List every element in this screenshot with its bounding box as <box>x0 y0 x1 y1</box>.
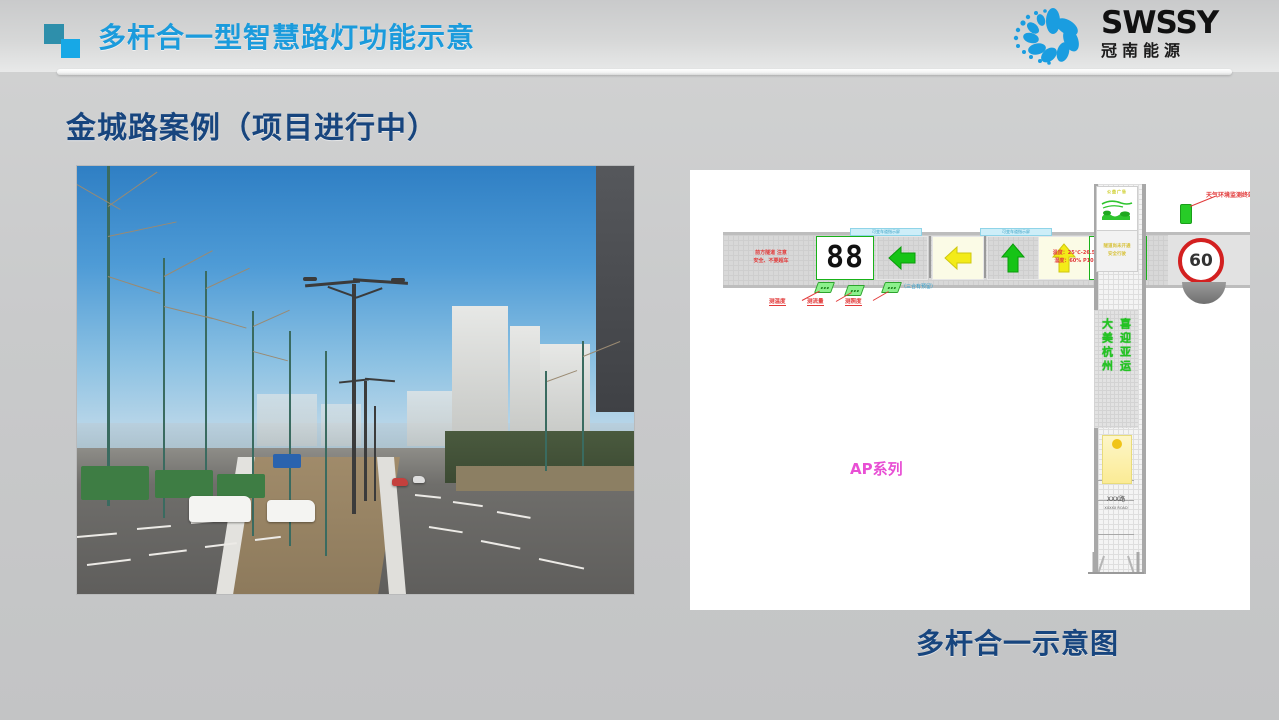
street-name-cn: XXX路 <box>1107 496 1125 504</box>
pole-led-column-1: 喜迎亚运 <box>1119 318 1132 428</box>
arrow-up-green-icon <box>998 241 1028 275</box>
sensor-reserve-note: （三合有预留） <box>901 283 936 290</box>
section-subtitle: 金城路案例（项目进行中） <box>66 103 438 147</box>
tunnel-warning-message: 前方隧道 注意 安全、不要超车 <box>730 238 812 276</box>
street-photo <box>76 165 635 595</box>
pole-led-column-2: 大美杭州 <box>1101 318 1114 428</box>
speed-limit-sign: 60 <box>1178 238 1224 284</box>
lane-divider <box>984 236 986 278</box>
photo-roadside-tree <box>582 341 584 466</box>
landscape-graphic-icon <box>1099 195 1135 223</box>
pole-notice-line2: 安全行驶 <box>1108 251 1126 259</box>
pole-led-lamp-panel <box>1102 435 1132 484</box>
weather-sensor-label: 天气环境监测终端 <box>1206 190 1250 199</box>
environment-humidity: 湿度：60% P10 <box>1054 257 1093 265</box>
pole-led-banner: 大美杭州 喜迎亚运 <box>1094 310 1138 428</box>
header-divider <box>57 69 1232 75</box>
countdown-display-left: 88 <box>816 236 874 280</box>
pole-notice-line1: 隧道尚未开通 <box>1104 243 1131 251</box>
logo-chinese-name: 冠南能源 <box>1101 41 1218 61</box>
photo-white-car <box>189 496 251 522</box>
sensor-label-1: 测温度 <box>769 297 786 306</box>
company-logo: SWSSY 冠南能源 <box>1009 5 1257 67</box>
photo-building <box>257 394 317 446</box>
sensor-label-3: 测照度 <box>845 297 862 306</box>
pole-notice-panel: 隧道尚未开通 安全行驶 <box>1096 230 1138 272</box>
slide-root: 多杆合一型智慧路灯功能示意 <box>0 0 1279 720</box>
diagram-caption: 多杆合一示意图 <box>916 622 1119 662</box>
logo-english-name: SWSSY <box>1101 7 1218 39</box>
arrow-left-green-icon <box>885 243 919 273</box>
header-decor-squares <box>44 24 84 58</box>
variable-lane-strip-right: 可变车道指示屏 <box>980 228 1052 236</box>
slide-header: 多杆合一型智慧路灯功能示意 <box>0 0 1279 72</box>
photo-white-car <box>267 500 315 522</box>
ap-series-label: AP系列 <box>850 458 903 479</box>
environment-temperature: 温度：25℃-26.5 <box>1053 249 1095 257</box>
photo-distant-car <box>392 478 408 486</box>
photo-distant-car <box>413 476 425 483</box>
tunnel-warning-line2: 安全、不要超车 <box>753 257 788 265</box>
pole-segment-line <box>1098 534 1134 535</box>
tunnel-warning-line1: 前方隧道 注意 <box>755 249 787 257</box>
pole-public-ad-panel: 公益广告 <box>1096 186 1138 232</box>
multi-pole-diagram: 可变车道指示屏 可变车道指示屏 前方隧道 注意 安全、不要超车 88 <box>690 170 1250 610</box>
weather-sensor-icon <box>1180 204 1192 224</box>
countdown-digits-left: 88 <box>826 243 864 273</box>
photo-green-truck <box>217 474 265 498</box>
photo-lamp-head <box>303 277 317 281</box>
lane-divider <box>929 236 931 278</box>
pole-base-icon <box>1088 552 1144 574</box>
photo-streetlight-pole <box>364 381 367 501</box>
pole-base <box>1088 552 1144 574</box>
photo-green-truck <box>81 466 149 500</box>
dome-camera-icon <box>1182 282 1226 304</box>
photo-building <box>510 326 540 441</box>
photo-building-tower <box>596 165 635 412</box>
photo-roadside-tree <box>107 166 110 506</box>
lane-arrow-left-yellow <box>932 236 984 280</box>
street-name-en: XXXXX ROAD <box>1104 504 1127 512</box>
photo-streetlight-pole <box>374 406 376 501</box>
photo-streetlight-pole <box>352 284 356 514</box>
page-title: 多杆合一型智慧路灯功能示意 <box>98 16 475 56</box>
speed-limit-value: 60 <box>1189 251 1213 271</box>
street-name-plate: XXX路 XXXXX ROAD <box>1096 492 1136 516</box>
swssy-flower-logo-icon <box>1009 7 1095 65</box>
photo-roadside-tree <box>252 311 254 536</box>
arrow-left-yellow-icon <box>941 243 975 273</box>
photo-road-sign <box>273 454 301 468</box>
photo-building <box>452 306 508 441</box>
lane-arrow-left-green <box>876 236 928 280</box>
logo-text-block: SWSSY 冠南能源 <box>1101 7 1218 61</box>
photo-lamp-head <box>391 278 405 282</box>
photo-roadside-tree <box>545 371 547 471</box>
decor-square-light-icon <box>61 39 80 58</box>
sensor-label-2: 测流量 <box>807 297 824 306</box>
photo-green-truck <box>155 470 213 498</box>
variable-lane-strip-left: 可变车道指示屏 <box>850 228 922 236</box>
photo-roadside-tree <box>325 351 327 556</box>
led-street-lamp-icon <box>1112 439 1122 449</box>
